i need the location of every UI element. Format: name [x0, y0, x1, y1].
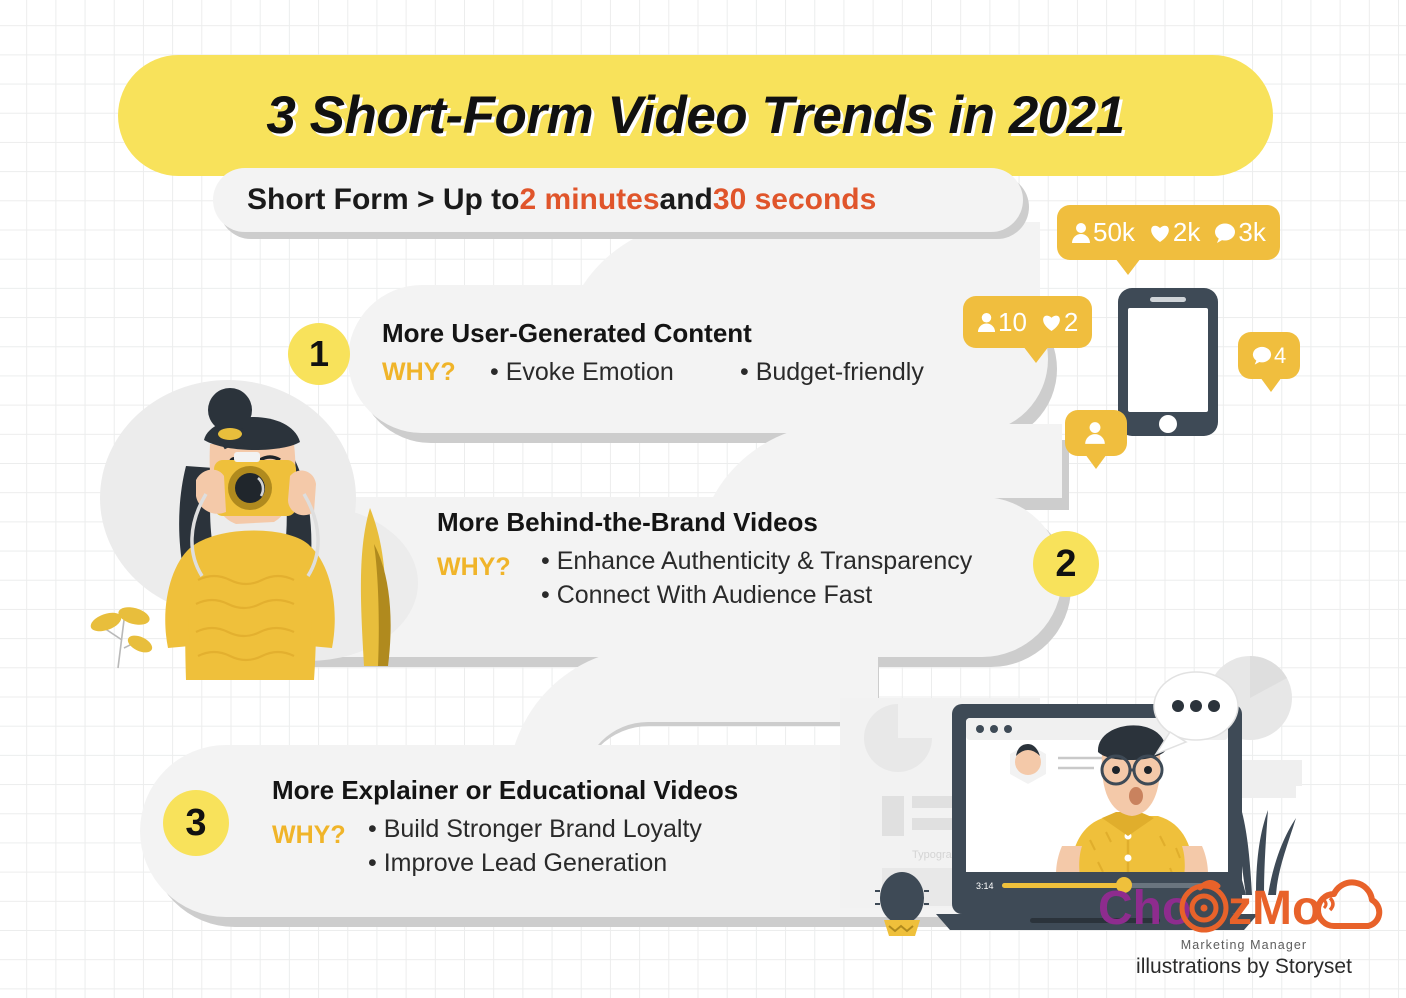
- trend-heading-2: More Behind-the-Brand Videos: [437, 507, 972, 538]
- logo-wordmark: Cho zMo: [1096, 878, 1392, 940]
- badge-tail: [1115, 258, 1141, 275]
- person-icon: [977, 312, 996, 333]
- trend-reasons-3: • Build Stronger Brand Loyalty • Improve…: [368, 815, 738, 878]
- social-user-badge: [1065, 410, 1127, 456]
- subtitle-pill: Short Form > Up to 2 minutes and 30 seco…: [213, 168, 1023, 232]
- subtitle-lead: Short Form > Up to: [247, 183, 520, 217]
- trend-reasons-2: • Enhance Authenticity & Transparency • …: [541, 547, 972, 610]
- title-banner: 3 Short-Form Video Trends in 2021: [118, 55, 1273, 176]
- step-number-1: 1: [288, 323, 350, 385]
- logo-text-part2: zMo: [1228, 882, 1321, 935]
- logo-subtitle: Marketing Manager: [1096, 938, 1392, 952]
- photographer-illustration: [78, 348, 428, 680]
- why-label-3: WHY?: [272, 821, 346, 850]
- trend-reason-3-1: • Build Stronger Brand Loyalty: [368, 815, 738, 844]
- badge-likes: 2: [1064, 307, 1078, 338]
- comment-icon: [1252, 346, 1272, 365]
- subtitle-value-1: 2 minutes: [520, 183, 660, 217]
- badge-followers: 10: [998, 307, 1027, 338]
- trend-reason-3-2: • Improve Lead Generation: [368, 849, 738, 878]
- badge-followers: 50k: [1093, 217, 1135, 248]
- badge-likes: 2k: [1173, 217, 1200, 248]
- step-number-2: 2: [1033, 531, 1099, 597]
- trend-reasons-1: WHY? • Evoke Emotion • Budget-friendly: [382, 358, 924, 387]
- video-timestamp: 3:14: [976, 881, 994, 891]
- person-icon: [1084, 421, 1106, 445]
- choozmo-logo: Cho zMo Marketing Manager: [1096, 878, 1392, 952]
- subtitle-value-2: 30 seconds: [713, 183, 876, 217]
- badge-tail: [1085, 454, 1107, 469]
- step-number-3: 3: [163, 790, 229, 856]
- social-stats-badge-right: 4: [1238, 332, 1300, 379]
- trend-reason-1-2: • Budget-friendly: [740, 358, 924, 387]
- trend-heading-3: More Explainer or Educational Videos: [272, 775, 738, 806]
- heart-icon: [1041, 313, 1062, 332]
- subtitle-container: Short Form > Up to 2 minutes and 30 seco…: [213, 168, 1023, 232]
- trend-reason-2-2: • Connect With Audience Fast: [541, 581, 972, 610]
- why-label-1: WHY?: [382, 358, 490, 387]
- subtitle-mid: and: [660, 183, 713, 217]
- page-title: 3 Short-Form Video Trends in 2021: [266, 85, 1124, 146]
- badge-tail: [1260, 377, 1282, 392]
- trend-block-1: More User-Generated Content WHY? • Evoke…: [382, 318, 924, 387]
- logo-text-part1: Cho: [1098, 882, 1191, 935]
- social-stats-badge-top: 50k 2k 3k: [1057, 205, 1280, 260]
- badge-comments: 3k: [1238, 217, 1265, 248]
- illustration-credit: illustrations by Storyset: [1096, 955, 1392, 979]
- social-stats-badge-left: 10 2: [963, 296, 1092, 348]
- trend-reason-2-1: • Enhance Authenticity & Transparency: [541, 547, 972, 576]
- badge-comments: 4: [1274, 343, 1286, 369]
- trend-block-3: More Explainer or Educational Videos WHY…: [272, 775, 738, 883]
- badge-tail: [1023, 346, 1049, 363]
- person-icon: [1071, 222, 1091, 244]
- trend-block-2: More Behind-the-Brand Videos WHY? • Enha…: [437, 507, 972, 615]
- trend-reason-1-1: • Evoke Emotion: [490, 358, 740, 387]
- comment-icon: [1214, 223, 1236, 243]
- why-label-2: WHY?: [437, 553, 511, 582]
- trend-heading-1: More User-Generated Content: [382, 318, 924, 349]
- heart-icon: [1149, 223, 1171, 243]
